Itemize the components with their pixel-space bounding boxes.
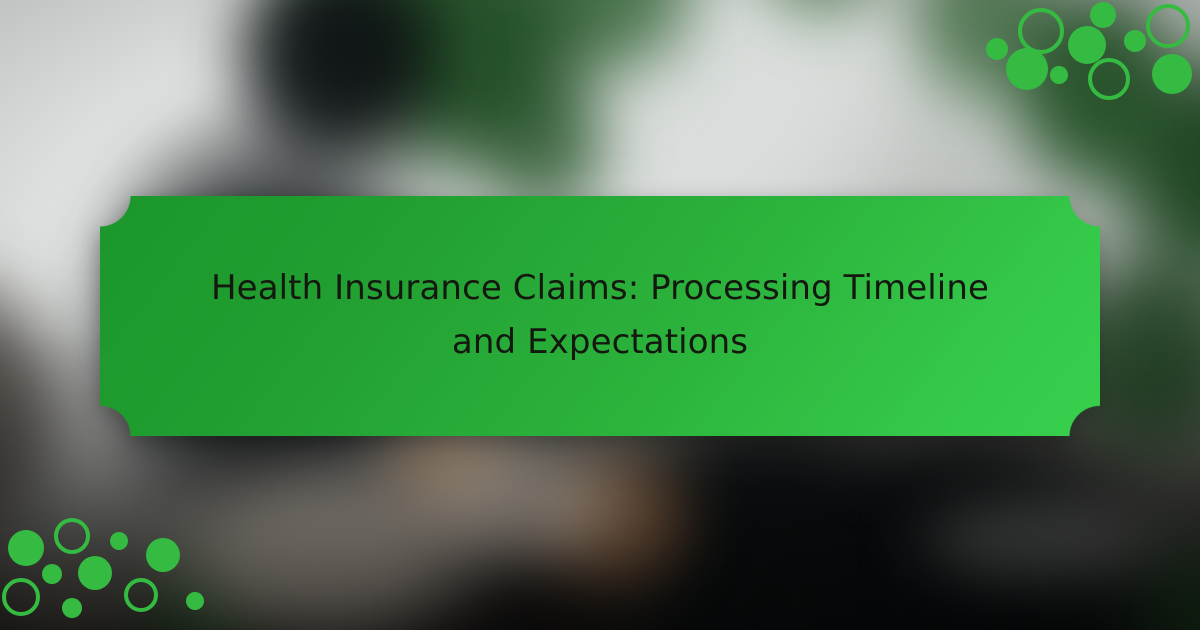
decorative-dot — [78, 556, 112, 590]
decorative-dot — [146, 538, 180, 572]
hero-card: Health Insurance Claims: Processing Time… — [0, 0, 1200, 630]
decorative-dot — [1124, 30, 1146, 52]
decorative-dot — [1006, 48, 1048, 90]
decorative-dot — [62, 598, 82, 618]
decorative-dot — [986, 38, 1008, 60]
decorative-dot — [42, 564, 62, 584]
decorative-dot — [1146, 4, 1190, 48]
decorative-dots-bottom-left — [0, 512, 220, 630]
decorative-dot — [2, 578, 40, 616]
decorative-dots-top-right — [980, 0, 1200, 118]
page-title-line-2: and Expectations — [452, 322, 748, 362]
page-title-line-1: Health Insurance Claims: Processing Time… — [211, 268, 989, 308]
page-title: Health Insurance Claims: Processing Time… — [211, 262, 989, 369]
decorative-dot — [54, 518, 90, 554]
decorative-dot — [124, 578, 158, 612]
decorative-dot — [8, 530, 44, 566]
decorative-dot — [1050, 66, 1068, 84]
decorative-dot — [186, 592, 204, 610]
title-banner: Health Insurance Claims: Processing Time… — [100, 196, 1100, 436]
decorative-dot — [1152, 54, 1192, 94]
decorative-dot — [110, 532, 128, 550]
decorative-dot — [1068, 26, 1106, 64]
decorative-dot — [1090, 2, 1116, 28]
title-banner-content: Health Insurance Claims: Processing Time… — [100, 196, 1100, 436]
decorative-dot — [1088, 58, 1130, 100]
